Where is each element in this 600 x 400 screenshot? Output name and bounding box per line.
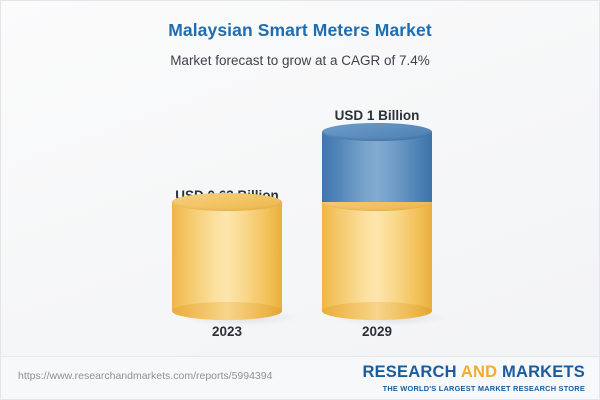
cylinder-base-cap xyxy=(172,302,282,320)
cylinder-2029 xyxy=(322,123,432,311)
chart-title: Malaysian Smart Meters Market xyxy=(1,20,599,41)
chart-card: Malaysian Smart Meters Market Market for… xyxy=(0,0,600,400)
cylinder-2023 xyxy=(172,193,282,311)
logo-text-and: AND xyxy=(461,363,497,381)
logo-text-markets: MARKETS xyxy=(497,363,585,381)
bar-segment-growth-2029 xyxy=(322,123,432,202)
chart-subtitle: Market forecast to grow at a CAGR of 7.4… xyxy=(1,53,599,68)
bar-segment-base-2029 xyxy=(322,193,432,311)
segment-body xyxy=(322,132,432,202)
bar-value-label-2029: USD 1 Billion xyxy=(292,108,462,123)
logo-tagline: THE WORLD'S LARGEST MARKET RESEARCH STOR… xyxy=(362,385,585,392)
logo-text-research: RESEARCH xyxy=(362,363,460,381)
segment-top-cap xyxy=(322,123,432,141)
plot-area: USD 0.63 Billion 2023 USD 1 Billion xyxy=(1,81,600,341)
segment-body xyxy=(172,202,282,311)
category-label-2029: 2029 xyxy=(292,324,462,339)
cylinder-base-cap xyxy=(322,302,432,320)
category-label-2023: 2023 xyxy=(142,324,312,339)
report-url-link[interactable]: https://www.researchandmarkets.com/repor… xyxy=(18,370,272,382)
footer: https://www.researchandmarkets.com/repor… xyxy=(1,356,599,399)
logo-wordmark: RESEARCH AND MARKETS xyxy=(362,364,585,381)
segment-body xyxy=(322,202,432,311)
segment-top-cap xyxy=(172,193,282,211)
bar-segment-base-2023 xyxy=(172,193,282,311)
research-and-markets-logo[interactable]: RESEARCH AND MARKETS THE WORLD'S LARGEST… xyxy=(362,364,585,392)
